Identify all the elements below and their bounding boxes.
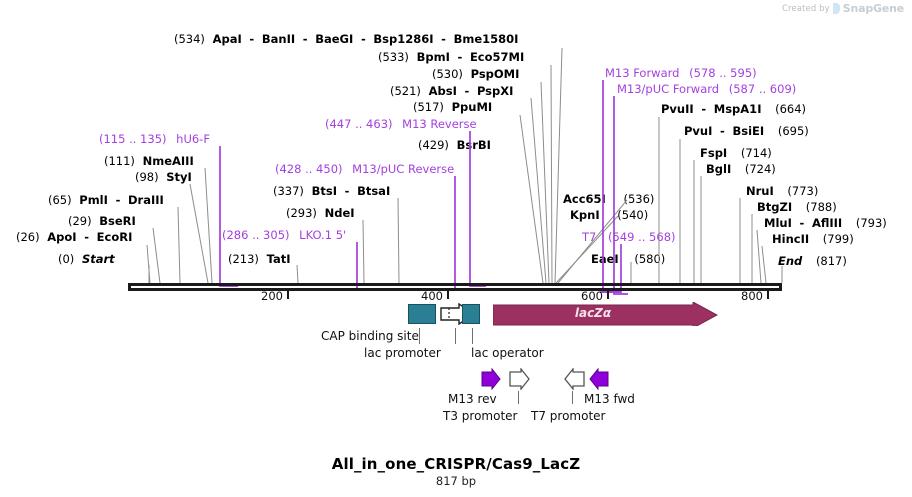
- enzyme-label-799[interactable]: HincII (799): [772, 233, 858, 246]
- sep: -: [345, 184, 350, 198]
- primer-name-m13-reverse: M13 Reverse: [396, 117, 476, 131]
- enzyme-name-acc65i: Acc65I: [563, 192, 606, 206]
- enzyme-position-29: (29): [68, 214, 92, 228]
- enzyme-name-afliii: AflIII: [812, 216, 842, 230]
- enzyme-name-banii: BanII: [262, 32, 295, 46]
- enzyme-position-773: (773): [781, 184, 818, 198]
- enzyme-name-styi: StyI: [166, 170, 192, 184]
- enzyme-label-98[interactable]: (98) StyI: [135, 171, 196, 184]
- ruler-tick-400: [447, 291, 449, 299]
- enzyme-label-end[interactable]: End (817): [778, 255, 851, 268]
- primer-range-m13-forward: (578 .. 595): [683, 66, 757, 80]
- enzyme-name-absi: AbsI: [429, 84, 457, 98]
- enzyme-label-521[interactable]: (521) AbsI - PspXI: [390, 85, 517, 98]
- enzyme-name-eco57mi: Eco57MI: [470, 50, 524, 64]
- feature-lac-operator[interactable]: [462, 304, 480, 324]
- enzyme-position-213: (213): [228, 252, 259, 266]
- enzyme-position-65: (65): [48, 193, 72, 207]
- primer-range-m13-puc-reverse: (428 .. 450): [275, 162, 343, 176]
- enzyme-name-hincii: HincII: [772, 232, 809, 246]
- enzyme-position-788: (788): [800, 200, 837, 214]
- primer-name-hu6f: hU6-F: [170, 132, 210, 146]
- ruler-label-800: 800: [717, 289, 763, 303]
- primer-range-hu6f: (115 .. 135): [99, 132, 167, 146]
- enzyme-label-540[interactable]: KpnI (540): [570, 209, 652, 222]
- primer-arrow-t7-promoter[interactable]: [564, 368, 586, 390]
- feature-label-lac-promoter: lac promoter: [364, 346, 441, 360]
- enzyme-name-bsp1286i: Bsp1286I: [373, 32, 433, 46]
- enzyme-name-pvuii: PvuII: [661, 102, 694, 116]
- enzyme-position-793: (793): [850, 216, 887, 230]
- enzyme-label-580[interactable]: EaeI (580): [591, 253, 669, 266]
- enzyme-name-bgli: BglI: [706, 162, 731, 176]
- sep: -: [720, 124, 725, 138]
- enzyme-label-26[interactable]: (26) ApoI - EcoRI: [16, 231, 136, 244]
- backbone-start-cap: [128, 283, 131, 291]
- primer-leader-t7: [572, 391, 573, 404]
- enzyme-name-fspi: FspI: [700, 146, 727, 160]
- enzyme-label-293[interactable]: (293) NdeI: [286, 207, 359, 220]
- enzyme-label-714[interactable]: FspI (714): [700, 147, 776, 160]
- enzyme-label-429[interactable]: (429) BsrBI: [418, 139, 495, 152]
- ruler-tick-200: [287, 291, 289, 299]
- primer-label-m13-rev: M13 rev: [448, 392, 497, 406]
- enzyme-position-0: (0): [58, 252, 74, 266]
- enzyme-position-536: (536): [613, 192, 654, 206]
- enzyme-name-mspa1i: MspA1I: [714, 102, 762, 116]
- enzyme-position-714: (714): [735, 146, 772, 160]
- enzyme-name-btgzi: BtgZI: [757, 200, 792, 214]
- enzyme-label-65[interactable]: (65) PmlI - DraIII: [48, 194, 168, 207]
- enzyme-position-817: (817): [810, 254, 847, 268]
- enzyme-label-664[interactable]: PvuII - MspA1I (664): [661, 103, 810, 116]
- enzyme-name-ecori: EcoRI: [97, 230, 133, 244]
- primer-label-hu6f[interactable]: (115 .. 135) hU6-F: [99, 133, 210, 146]
- sep: -: [84, 230, 89, 244]
- ruler-label-600: 600: [557, 289, 603, 303]
- backbone-end-cap: [779, 283, 782, 291]
- enzyme-label-793[interactable]: MluI - AflIII (793): [764, 217, 891, 230]
- enzyme-label-534[interactable]: (534) ApaI - BanII - BaeGI - Bsp1286I - …: [174, 33, 522, 46]
- primer-label-m13-reverse[interactable]: (447 .. 463) M13 Reverse: [325, 118, 477, 131]
- enzyme-position-695: (695): [772, 124, 809, 138]
- primer-name-lko1: LKO.1 5': [293, 228, 346, 242]
- enzyme-position-26: (26): [16, 230, 40, 244]
- sep: -: [465, 84, 470, 98]
- sep: -: [458, 50, 463, 64]
- marker-end: End: [778, 254, 802, 268]
- primer-name-m13-puc-forward: M13/pUC Forward: [617, 82, 719, 96]
- enzyme-position-724: (724): [739, 162, 776, 176]
- enzyme-position-664: (664): [769, 102, 806, 116]
- primer-arrow-t3-promoter[interactable]: [509, 368, 531, 390]
- enzyme-name-bsrbi: BsrBI: [457, 138, 491, 152]
- enzyme-position-337: (337): [273, 184, 304, 198]
- feature-leader-cap: [419, 328, 420, 344]
- enzyme-position-540: (540): [607, 208, 648, 222]
- feature-leader-lac-promoter: [455, 328, 456, 344]
- feature-label-cap-binding-site: CAP binding site: [321, 329, 419, 343]
- enzyme-name-tati: TatI: [267, 252, 291, 266]
- enzyme-label-start[interactable]: (0) Start: [58, 253, 119, 266]
- snapgene-watermark: Created by SnapGene: [782, 2, 904, 15]
- enzyme-name-kpni: KpnI: [570, 208, 600, 222]
- enzyme-position-429: (429): [418, 138, 449, 152]
- enzyme-position-293: (293): [286, 206, 317, 220]
- sep: -: [701, 102, 706, 116]
- enzyme-position-98: (98): [135, 170, 159, 184]
- enzyme-name-pspxi: PspXI: [477, 84, 513, 98]
- watermark-brand: SnapGene: [843, 2, 904, 15]
- sep: -: [303, 32, 308, 46]
- enzyme-name-bpmi: BpmI: [417, 50, 450, 64]
- watermark-prefix: Created by: [782, 4, 830, 14]
- enzyme-name-ppumi: PpuMI: [452, 100, 493, 114]
- enzyme-name-apai: ApaI: [213, 32, 242, 46]
- enzyme-name-pspomi: PspOMI: [471, 67, 520, 81]
- enzyme-position-534: (534): [174, 32, 205, 46]
- enzyme-position-517: (517): [413, 100, 444, 114]
- feature-cap-binding-site[interactable]: [408, 304, 436, 324]
- enzyme-name-bsiei: BsiEI: [732, 124, 764, 138]
- primer-range-m13-puc-forward: (587 .. 609): [723, 82, 797, 96]
- enzyme-name-nmeaiii: NmeAIII: [143, 154, 194, 168]
- ruler-tick-600: [607, 291, 609, 299]
- marker-start: Start: [82, 252, 115, 266]
- page-subtitle: 817 bp: [0, 474, 912, 488]
- sequence-backbone-top: [128, 283, 782, 286]
- primer-label-m13-puc-forward[interactable]: M13/pUC Forward (587 .. 609): [617, 83, 796, 96]
- primer-arrow-m13-fwd[interactable]: [589, 368, 609, 390]
- primer-label-lko1-5prime[interactable]: (286 .. 305) LKO.1 5': [222, 229, 346, 242]
- enzyme-label-337[interactable]: (337) BtsI - BtsaI: [273, 185, 394, 198]
- sep: -: [800, 216, 805, 230]
- enzyme-name-apoi: ApoI: [47, 230, 76, 244]
- ruler-label-400: 400: [397, 289, 443, 303]
- primer-label-t7[interactable]: T7 (549 .. 568): [582, 231, 676, 244]
- enzyme-position-111: (111): [104, 154, 135, 168]
- primer-label-t3-promoter: T3 promoter: [443, 409, 517, 423]
- sep: -: [116, 193, 121, 207]
- sep: -: [441, 32, 446, 46]
- enzyme-label-29[interactable]: (29) BseRI: [68, 215, 140, 228]
- enzyme-position-530: (530): [432, 67, 463, 81]
- enzyme-label-695[interactable]: PvuI - BsiEI (695): [684, 125, 813, 138]
- primer-range-lko1: (286 .. 305): [222, 228, 290, 242]
- enzyme-label-788[interactable]: BtgZI (788): [757, 201, 841, 214]
- enzyme-name-nrui: NruI: [746, 184, 774, 198]
- primer-name-m13-forward: M13 Forward: [605, 66, 679, 80]
- primer-arrow-m13-rev[interactable]: [481, 368, 501, 390]
- enzyme-name-draiii: DraIII: [128, 193, 164, 207]
- enzyme-name-eaei: EaeI: [591, 252, 619, 266]
- primer-label-m13-fwd: M13 fwd: [584, 392, 635, 406]
- enzyme-label-773[interactable]: NruI (773): [746, 185, 822, 198]
- sep: -: [249, 32, 254, 46]
- enzyme-position-799: (799): [817, 232, 854, 246]
- enzyme-name-bseri: BseRI: [99, 214, 136, 228]
- primer-range-t7: (549 .. 568): [600, 230, 676, 244]
- sequence-backbone-bottom: [128, 288, 782, 291]
- enzyme-label-517[interactable]: (517) PpuMI: [413, 101, 496, 114]
- primer-name-t7: T7: [582, 230, 596, 244]
- enzyme-name-btsai: BtsaI: [357, 184, 390, 198]
- enzyme-name-pmli: PmlI: [79, 193, 108, 207]
- primer-label-t7-promoter: T7 promoter: [531, 409, 605, 423]
- enzyme-name-mlui: MluI: [764, 216, 792, 230]
- enzyme-name-bme1580i: Bme1580I: [454, 32, 519, 46]
- enzyme-label-530[interactable]: (530) PspOMI: [432, 68, 523, 81]
- plasmid-map-canvas: Created by SnapGene (534) ApaI - BanII -…: [0, 0, 912, 497]
- enzyme-name-baegi: BaeGI: [315, 32, 353, 46]
- enzyme-name-btsi: BtsI: [312, 184, 337, 198]
- primer-range-m13-reverse: (447 .. 463): [325, 117, 393, 131]
- feature-lacz-label: lacZα: [493, 306, 693, 320]
- primer-label-m13-puc-reverse[interactable]: (428 .. 450) M13/pUC Reverse: [275, 163, 454, 176]
- primer-label-m13-forward[interactable]: M13 Forward (578 .. 595): [605, 67, 757, 80]
- enzyme-label-536[interactable]: Acc65I (536): [563, 193, 658, 206]
- page-title: All_in_one_CRISPR/Cas9_LacZ: [0, 455, 912, 473]
- enzyme-name-ndei: NdeI: [325, 206, 355, 220]
- primer-name-m13-puc-reverse: M13/pUC Reverse: [346, 162, 454, 176]
- primer-leader-t3: [518, 391, 519, 404]
- enzyme-position-521: (521): [390, 84, 421, 98]
- enzyme-label-724[interactable]: BglI (724): [706, 163, 780, 176]
- enzyme-label-213[interactable]: (213) TatI: [228, 253, 295, 266]
- enzyme-label-111[interactable]: (111) NmeAIII: [104, 155, 198, 168]
- enzyme-position-580: (580): [626, 252, 665, 266]
- ruler-label-200: 200: [237, 289, 283, 303]
- enzyme-label-533[interactable]: (533) BpmI - Eco57MI: [378, 51, 528, 64]
- ruler-tick-800: [767, 291, 769, 299]
- feature-label-lac-operator: lac operator: [471, 346, 544, 360]
- snapgene-flag-icon: [833, 3, 840, 14]
- sep: -: [361, 32, 366, 46]
- feature-leader-lac-operator: [472, 328, 473, 344]
- enzyme-position-533: (533): [378, 50, 409, 64]
- enzyme-name-pvui: PvuI: [684, 124, 712, 138]
